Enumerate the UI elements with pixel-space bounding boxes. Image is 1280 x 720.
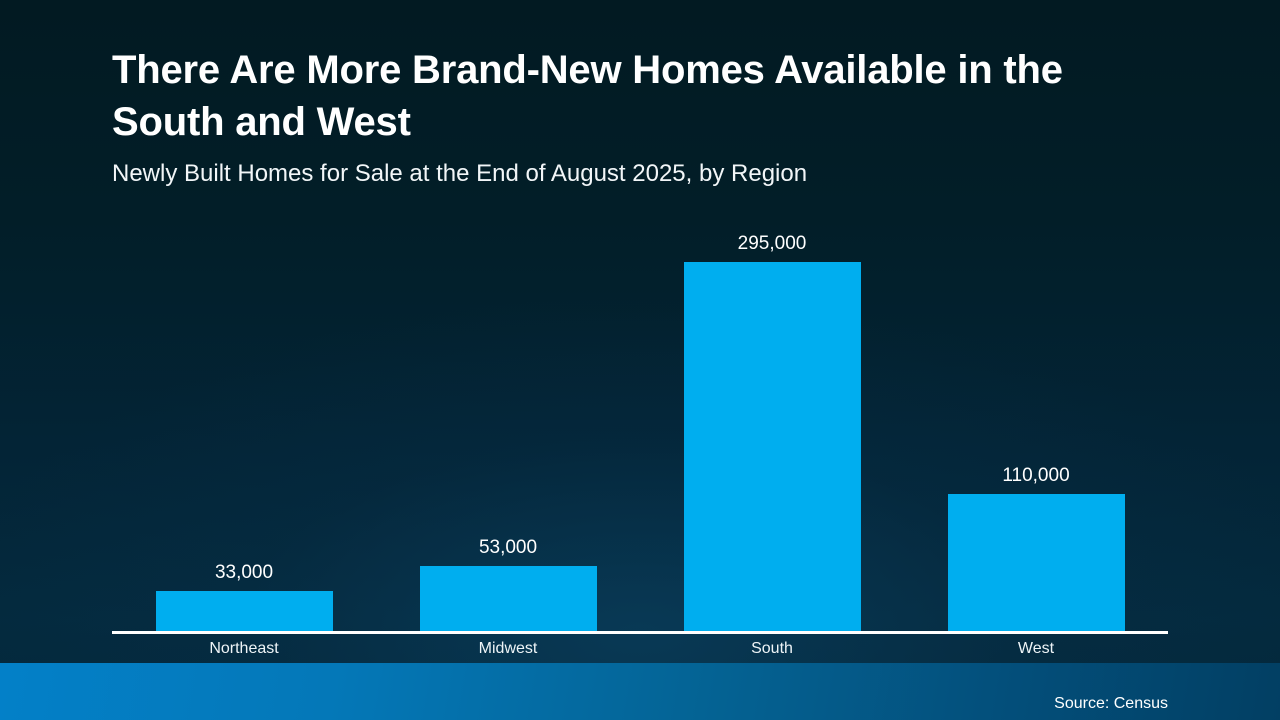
chart-header: There Are More Brand-New Homes Available… xyxy=(112,44,1172,189)
footer-bar: Source: Census xyxy=(0,663,1280,720)
page-title: There Are More Brand-New Homes Available… xyxy=(112,44,1152,148)
x-axis-tick-labels: Northeast Midwest South West xyxy=(112,638,1168,660)
chart-plot-area: 33,000 53,000 295,000 110,000 xyxy=(112,212,1168,632)
x-tick-label-northeast: Northeast xyxy=(112,638,376,660)
chart-subtitle: Newly Built Homes for Sale at the End of… xyxy=(112,159,1172,189)
x-tick-label-west: West xyxy=(904,638,1168,660)
bar-value-label: 110,000 xyxy=(1002,465,1069,487)
bar-group-west: 110,000 xyxy=(904,212,1168,632)
x-axis-line xyxy=(112,631,1168,634)
bar-group-midwest: 53,000 xyxy=(376,212,640,632)
bar-south xyxy=(684,262,861,632)
bar-west xyxy=(948,494,1125,632)
bar-value-label: 33,000 xyxy=(215,562,273,584)
source-attribution: Source: Census xyxy=(1054,694,1168,714)
bar-value-label: 295,000 xyxy=(738,233,807,255)
bar-value-label: 53,000 xyxy=(479,537,537,559)
slide-canvas: There Are More Brand-New Homes Available… xyxy=(0,0,1280,720)
x-tick-label-south: South xyxy=(640,638,904,660)
bar-group-south: 295,000 xyxy=(640,212,904,632)
bar-group-northeast: 33,000 xyxy=(112,212,376,632)
x-tick-label-midwest: Midwest xyxy=(376,638,640,660)
bar-series: 33,000 53,000 295,000 110,000 xyxy=(112,212,1168,632)
bar-northeast xyxy=(156,591,333,632)
bar-midwest xyxy=(420,566,597,632)
